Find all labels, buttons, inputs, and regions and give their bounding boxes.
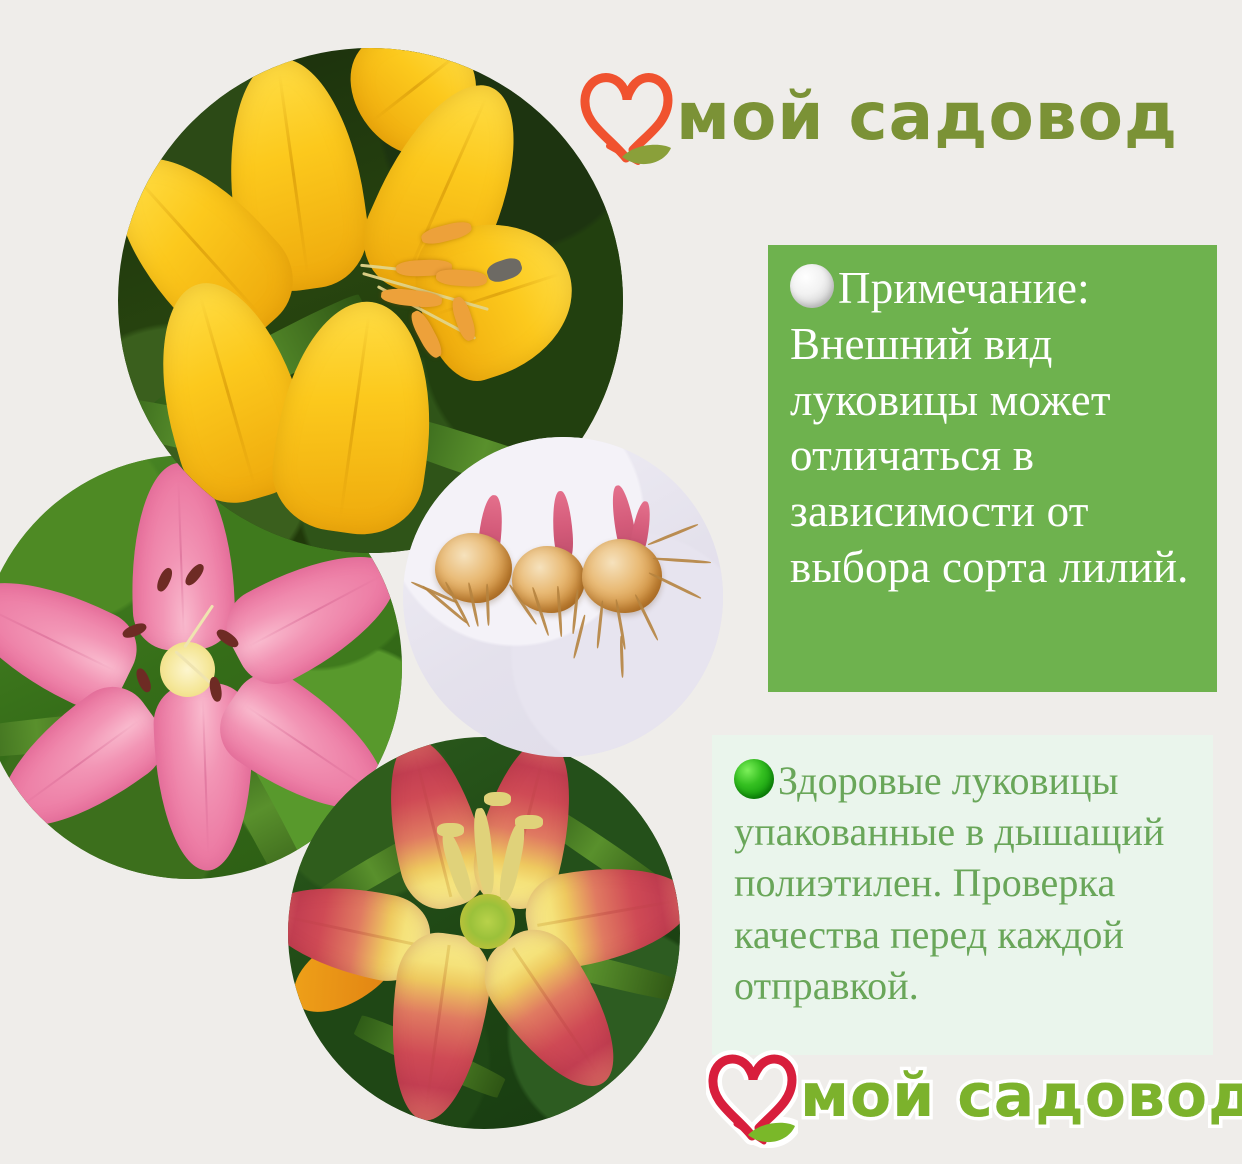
heart-leaf-icon bbox=[706, 1044, 798, 1148]
lily-bulb bbox=[435, 533, 512, 603]
lily-center bbox=[460, 894, 515, 949]
note-panel-text: Примечание: Внешний вид луковицы может о… bbox=[768, 245, 1217, 596]
healthy-panel-text: Здоровые луковицы упакованные в дышащий … bbox=[712, 735, 1213, 1011]
white-sphere-bullet-icon bbox=[790, 264, 834, 308]
lily-center bbox=[160, 642, 215, 697]
photo-lily-bulbs bbox=[403, 437, 723, 757]
poster-canvas: мой садовод Примечание: Внешний вид луко… bbox=[0, 0, 1242, 1164]
brand-name-top: мой садовод bbox=[676, 84, 1178, 150]
note-panel-body: Примечание: Внешний вид луковицы может о… bbox=[790, 263, 1189, 592]
brand-logo-bottom[interactable]: мой садовод мой садовод bbox=[706, 1044, 1242, 1148]
brand-logo-top[interactable]: мой садовод bbox=[578, 62, 1178, 172]
lily-anther bbox=[515, 815, 542, 829]
photo-bicolor-lily bbox=[288, 737, 680, 1129]
brand-name-bottom: мой садовод bbox=[800, 1066, 1242, 1126]
lily-anther bbox=[437, 823, 464, 837]
heart-leaf-icon bbox=[578, 62, 674, 172]
lily-anther bbox=[484, 792, 511, 806]
note-panel: Примечание: Внешний вид луковицы может о… bbox=[768, 245, 1217, 692]
green-sphere-bullet-icon bbox=[734, 759, 774, 799]
lily-bulb bbox=[582, 539, 662, 613]
healthy-panel-body: Здоровые луковицы упакованные в дышащий … bbox=[734, 758, 1165, 1008]
brand-name-bottom-wrap: мой садовод мой садовод bbox=[800, 1066, 1242, 1126]
healthy-bulbs-panel: Здоровые луковицы упакованные в дышащий … bbox=[712, 735, 1213, 1055]
